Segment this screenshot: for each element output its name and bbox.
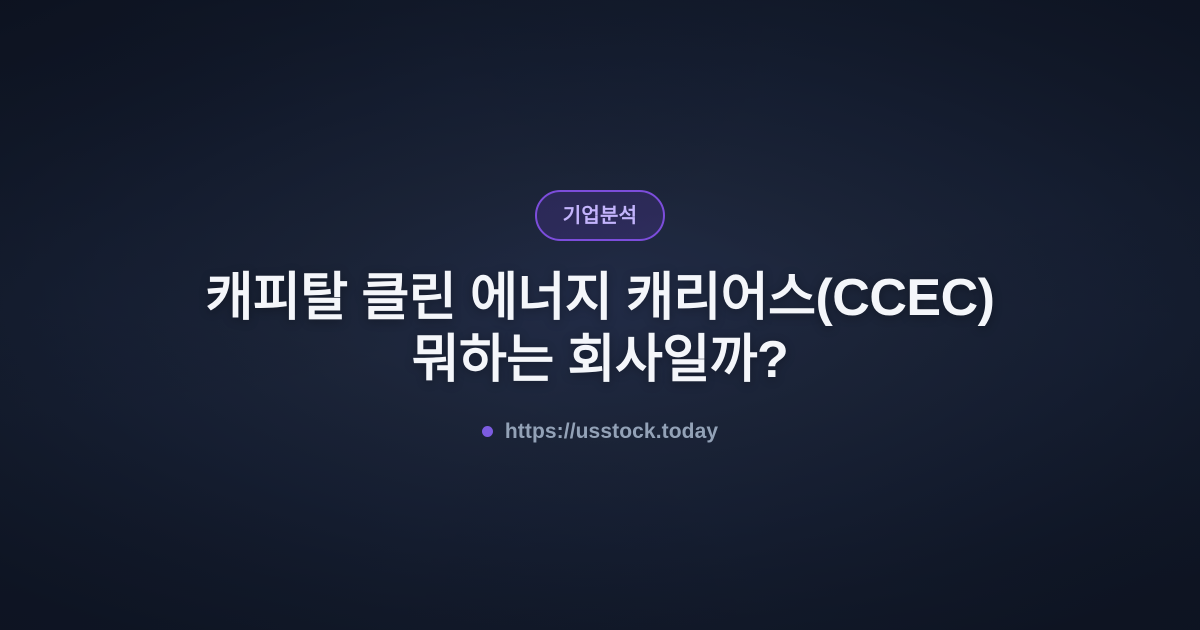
- dot-icon: [482, 426, 493, 437]
- site-footer: https://usstock.today: [482, 421, 718, 442]
- og-card: 기업분석 캐피탈 클린 에너지 캐리어스(CCEC) 뭐하는 회사일까? htt…: [0, 0, 1200, 630]
- site-url: https://usstock.today: [505, 421, 718, 442]
- category-badge-label: 기업분석: [563, 206, 637, 226]
- page-title-line-1: 캐피탈 클린 에너지 캐리어스(CCEC): [206, 267, 995, 329]
- card-content: 기업분석 캐피탈 클린 에너지 캐리어스(CCEC) 뭐하는 회사일까? htt…: [0, 0, 1200, 442]
- page-title: 캐피탈 클린 에너지 캐리어스(CCEC) 뭐하는 회사일까?: [206, 267, 995, 391]
- category-badge: 기업분석: [535, 190, 665, 241]
- page-title-line-2: 뭐하는 회사일까?: [206, 329, 995, 391]
